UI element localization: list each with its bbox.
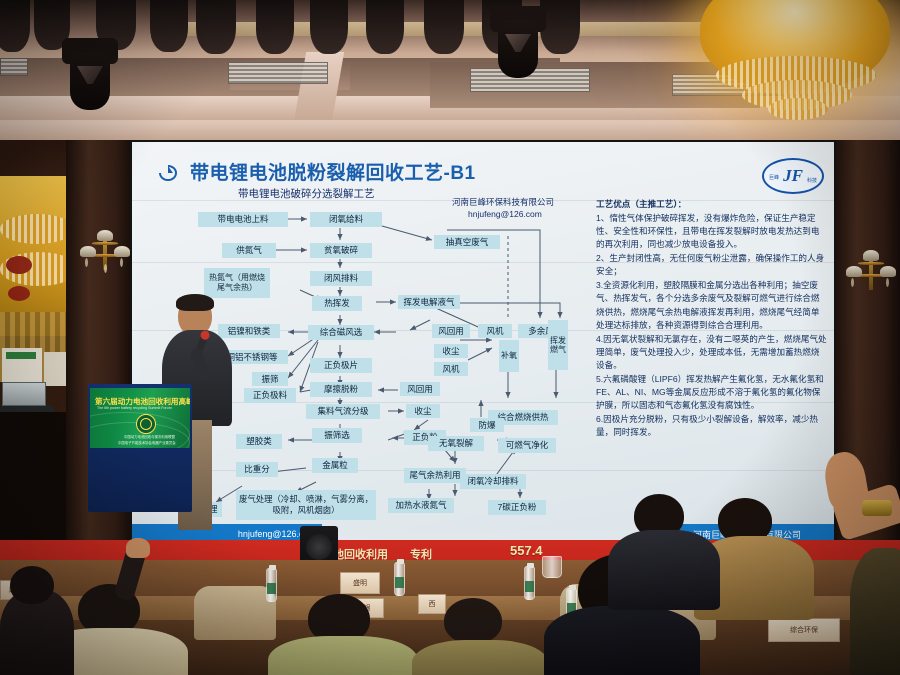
laptop[interactable] bbox=[0, 382, 58, 416]
flow-node-n24: 集料气流分级 bbox=[306, 404, 380, 419]
stage-light-1 bbox=[0, 0, 30, 52]
speaker-hair bbox=[176, 294, 214, 311]
flow-node-n9: 挥发电解液气 bbox=[398, 295, 460, 309]
attendee-4 bbox=[418, 600, 538, 675]
podium-sign: 第六届动力电池回收利用高峰论坛 The 6th power battery re… bbox=[90, 388, 190, 448]
flow-node-n16: 补氧 bbox=[499, 340, 519, 372]
flow-node-n34: 无氧裂解 bbox=[428, 436, 484, 451]
flow-node-n7: 热氮气（用燃烧尾气余热） bbox=[204, 268, 270, 298]
flow-node-n38: 废气处理（冷却、喷淋，气雾分离，吸附，风机烟囱） bbox=[236, 490, 376, 520]
flow-node-n35: 可燃气净化 bbox=[498, 438, 556, 453]
flow-node-n21: 摩擦脱粉 bbox=[310, 382, 372, 397]
advantages-heading: 工艺优点（主推工艺）： bbox=[596, 198, 828, 211]
advantage-item-2: 2、生产封闭性高，无任何废气粉尘泄露，确保操作工的人身安全； bbox=[596, 252, 828, 278]
attendee-8-body bbox=[850, 548, 900, 675]
flow-node-n32: 比重分 bbox=[236, 462, 278, 477]
flow-node-n23: 正负极料 bbox=[244, 388, 296, 403]
flow-node-n37: 闭氧冷却排料 bbox=[460, 474, 526, 489]
stage-light-4 bbox=[150, 0, 188, 52]
attendee-2-hand bbox=[126, 538, 150, 558]
attendee-2 bbox=[0, 570, 90, 675]
flow-node-n2: 闭氧给料 bbox=[310, 212, 382, 227]
advantage-item-4: 4.因无氧状裂解和无氯存在，没有二噁英的产生，燃烧尾气处理简单，废气处理投入少，… bbox=[596, 333, 828, 372]
advantages-panel: 工艺优点（主推工艺）： 1、惰性气体保护破碎挥发，没有爆炸危险，保证生产稳定性、… bbox=[596, 198, 828, 440]
chair-1 bbox=[194, 586, 276, 640]
flow-node-n25: 收尘 bbox=[406, 404, 440, 418]
logo-mark: JF bbox=[783, 166, 803, 186]
red-banner-number: 557.4 bbox=[510, 543, 543, 558]
flow-node-n13: 风机 bbox=[478, 324, 512, 338]
flow-node-n36: 尾气余热利用 bbox=[404, 468, 466, 483]
attendee-3 bbox=[268, 594, 408, 675]
flow-node-n40: 7碳正负粉 bbox=[488, 500, 546, 515]
exhibit-board-1-title bbox=[6, 352, 36, 359]
flow-node-n18: 收尘 bbox=[434, 344, 468, 358]
swirl-bullet-icon bbox=[157, 163, 181, 183]
name-card-2: 盛明 bbox=[340, 572, 380, 594]
flow-node-n6: 闭风排料 bbox=[310, 271, 372, 286]
stage-light-6 bbox=[256, 0, 294, 54]
flow-node-n11: 综合磁风选 bbox=[308, 325, 374, 340]
advantage-item-5: 5.六氟磷酸锂（LIPF6）挥发热解产生氟化氢，无水氟化氢和FE、AL、NI、M… bbox=[596, 373, 828, 412]
attendee-7-body bbox=[608, 530, 720, 610]
flow-node-n5: 贫氧破碎 bbox=[310, 243, 372, 258]
stage-light-5 bbox=[196, 0, 236, 54]
podium-seal-icon bbox=[136, 414, 156, 434]
flow-node-n12: 风回用 bbox=[432, 324, 470, 338]
stage-light-11 bbox=[540, 0, 580, 54]
slide-subtitle: 带电锂电池破碎分选裂解工艺 bbox=[238, 186, 375, 201]
water-bottle-2 bbox=[394, 562, 405, 596]
advantage-item-6: 6.因极片充分脱粉，只有极少小裂解设备，解效率，减少热量，同时挥发。 bbox=[596, 413, 828, 439]
side-table-left bbox=[0, 412, 70, 560]
flow-node-n20: 正负极片 bbox=[310, 358, 372, 373]
flow-node-n26: 风机 bbox=[434, 362, 468, 376]
ceiling-vent-1 bbox=[228, 62, 328, 84]
logo-left-text: 巨峰 bbox=[769, 174, 779, 181]
laptop-screen bbox=[2, 382, 46, 406]
conference-photo: 带电锂电池脱粉裂解回收工艺-B1 带电锂电池破碎分选裂解工艺 河南巨峰环保科技有… bbox=[0, 0, 900, 675]
attendee-2-head bbox=[10, 566, 54, 604]
podium-org-line-2: 中国电子节能技术协会电器产业委员会 bbox=[118, 441, 176, 446]
stage-light-9 bbox=[424, 0, 464, 54]
flow-node-n31: 防爆 bbox=[470, 418, 504, 432]
flow-node-n1: 带电电池上料 bbox=[198, 212, 288, 227]
slide-title: 带电锂电池脱粉裂解回收工艺-B1 bbox=[190, 158, 476, 185]
wrist-watch bbox=[862, 500, 892, 516]
attendee-3-body bbox=[268, 636, 418, 675]
flow-node-n29: 振筛选 bbox=[312, 428, 362, 443]
flow-node-n4: 供氮气 bbox=[222, 243, 276, 258]
moving-head-light-2 bbox=[498, 20, 538, 78]
flow-node-n22: 风回用 bbox=[400, 382, 440, 396]
flow-node-n15: 挥发燃气 bbox=[548, 320, 568, 370]
wall-sconce-left bbox=[78, 218, 132, 278]
flow-node-n8: 热挥发 bbox=[312, 296, 362, 311]
flow-node-n3: 抽真空废气 bbox=[434, 235, 500, 249]
water-bottle-3 bbox=[524, 566, 535, 600]
slide-company-email: hnjufeng@126.com bbox=[468, 208, 542, 220]
attendee-4-body bbox=[412, 640, 548, 675]
attendee-5-body bbox=[544, 606, 700, 675]
ceiling-vent-4 bbox=[0, 58, 28, 76]
company-logo: 巨峰 JF 科技 bbox=[762, 158, 824, 194]
advantage-item-3: 3.全资源化利用，塑胶隔膜和金属分选出各种利用；抽空废气、热挥发气，各个分选多余… bbox=[596, 279, 828, 331]
stage-light-7 bbox=[310, 0, 348, 54]
podium-title-en: The 6th power battery recycling Summit F… bbox=[97, 406, 172, 410]
moving-head-light-1 bbox=[70, 52, 110, 110]
advantage-item-1: 1、惰性气体保护破碎挥发，没有爆炸危险，保证生产稳定性、安全性和环保性，且带电在… bbox=[596, 212, 828, 251]
flow-node-n19: 振筛 bbox=[252, 372, 288, 386]
attendee-8 bbox=[850, 548, 900, 675]
name-card-5: 综合环保 bbox=[768, 618, 840, 642]
flow-node-n33: 金属粒 bbox=[312, 458, 358, 473]
attendee-7 bbox=[612, 494, 712, 604]
wall-sconce-right bbox=[844, 238, 898, 298]
attendee-4-head bbox=[444, 598, 502, 644]
podium-org-line-1: 中国动力电池回收与梯次利用联盟 bbox=[124, 435, 175, 440]
logo-right-text: 科技 bbox=[807, 177, 817, 184]
flow-node-n39: 加热水液氮气 bbox=[388, 498, 454, 513]
flow-node-n28: 塑胶类 bbox=[236, 434, 282, 449]
stage-light-8 bbox=[366, 0, 404, 54]
slide-company-name: 河南巨峰环保科技有限公司 bbox=[452, 196, 554, 208]
